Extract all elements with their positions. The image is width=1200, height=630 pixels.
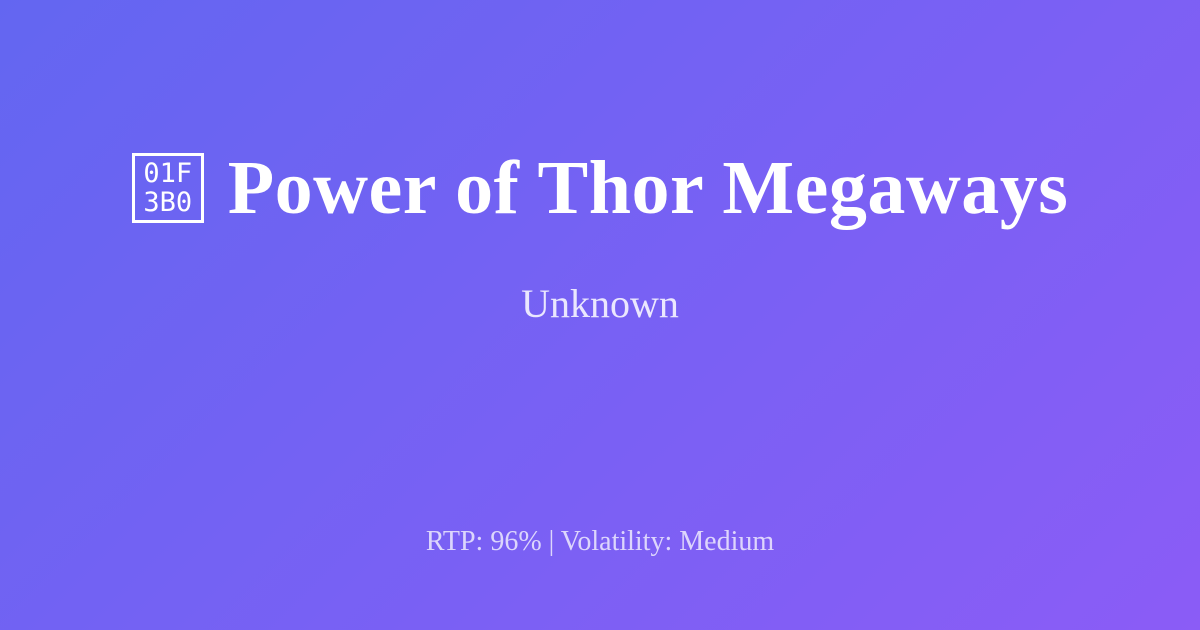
title-line: 01F 3B0 Power of Thor Megaways [132, 142, 1069, 234]
slot-machine-icon: 01F 3B0 [132, 153, 204, 223]
game-share-card: 01F 3B0 Power of Thor Megaways Unknown R… [0, 0, 1200, 630]
card-heading-block: 01F 3B0 Power of Thor Megaways Unknown [0, 0, 1200, 470]
slot-machine-icon-codepoint-high: 01F [143, 159, 192, 188]
slot-machine-icon-codepoint-low: 3B0 [143, 188, 192, 217]
game-stats-label: RTP: 96% | Volatility: Medium [0, 524, 1200, 560]
page-title: Power of Thor Megaways [228, 142, 1069, 234]
provider-label: Unknown [521, 280, 679, 328]
